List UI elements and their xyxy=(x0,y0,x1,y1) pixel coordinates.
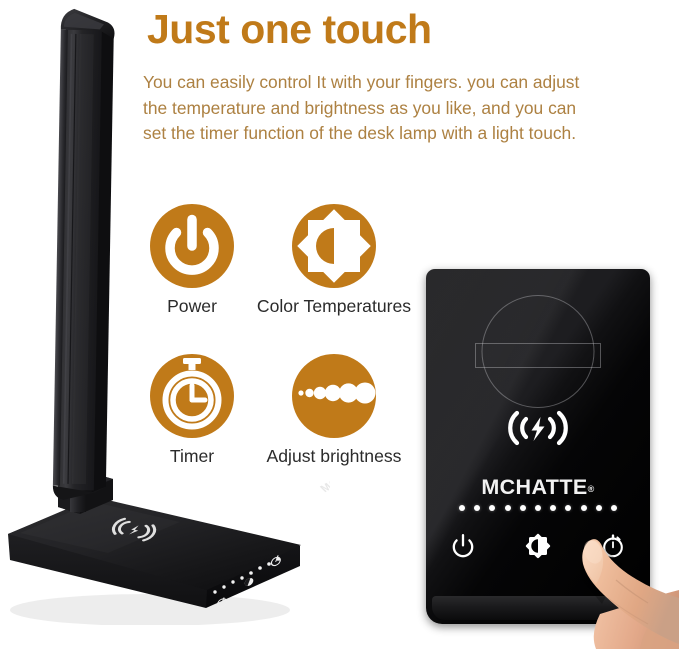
feature-color-temperatures: Color Temperatures xyxy=(249,202,419,317)
timer-stopwatch-icon xyxy=(148,352,236,440)
feature-label: Power xyxy=(148,296,236,317)
brightness-dot[interactable] xyxy=(474,505,480,511)
panel-power-button[interactable] xyxy=(448,531,478,561)
brightness-dot[interactable] xyxy=(505,505,511,511)
brightness-dot[interactable] xyxy=(535,505,541,511)
power-icon xyxy=(148,202,236,290)
brightness-dot[interactable] xyxy=(489,505,495,511)
infographic-canvas: MCHATTE xyxy=(0,0,679,649)
feature-label: Timer xyxy=(148,446,236,467)
color-temperature-icon xyxy=(290,202,378,290)
brightness-dot[interactable] xyxy=(459,505,465,511)
phone-placement-guide-bar xyxy=(475,343,601,368)
description-paragraph: You can easily control It with your fing… xyxy=(143,70,591,147)
feature-adjust-brightness: Adjust brightness xyxy=(249,352,419,467)
brightness-icon[interactable] xyxy=(523,531,553,561)
feature-label: Color Temperatures xyxy=(249,296,419,317)
lamp-light-panel xyxy=(53,9,115,501)
power-icon[interactable] xyxy=(448,531,478,561)
pointing-finger xyxy=(556,494,679,649)
feature-label: Adjust brightness xyxy=(249,446,419,467)
panel-brightness-button[interactable] xyxy=(523,531,553,561)
registered-mark: ® xyxy=(588,484,595,494)
brightness-dot[interactable] xyxy=(520,505,526,511)
brightness-dots-icon xyxy=(290,352,378,440)
page-title: Just one touch xyxy=(147,6,432,53)
feature-timer: Timer xyxy=(148,352,236,467)
feature-power: Power xyxy=(148,202,236,317)
wireless-charging-icon xyxy=(502,405,574,456)
